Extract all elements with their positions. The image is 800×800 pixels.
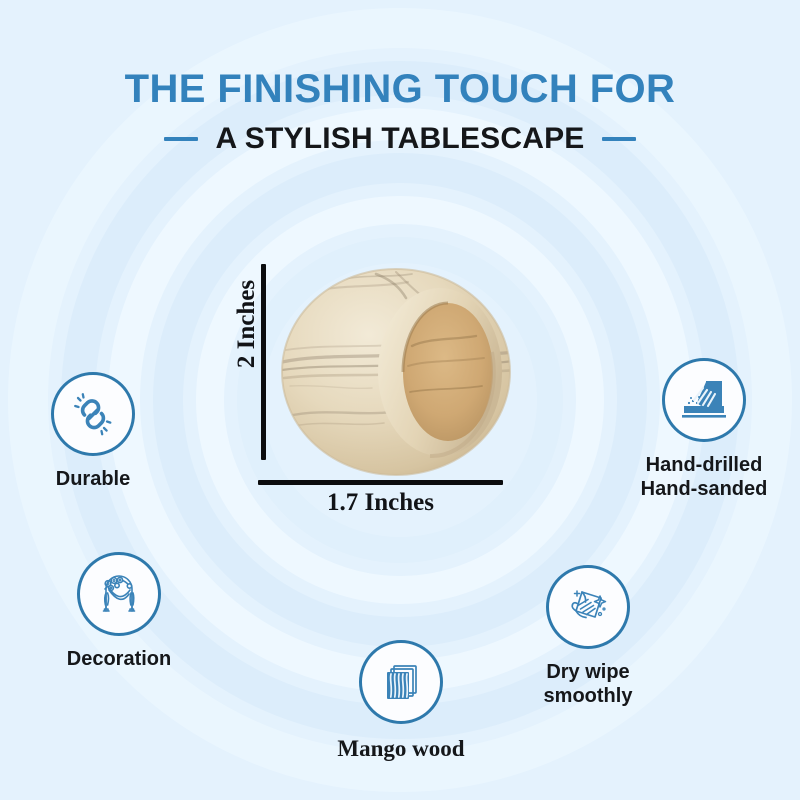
feature-label-handwork: Hand-drilled Hand-sanded bbox=[614, 453, 794, 501]
page-subtitle: A STYLISH TABLESCAPE bbox=[215, 122, 584, 156]
feature-label-decoration: Decoration bbox=[29, 647, 209, 671]
dash-left-icon bbox=[164, 137, 198, 141]
feature-label-mangowood: Mango wood bbox=[311, 735, 491, 763]
wood-planks-icon bbox=[378, 659, 424, 705]
feature-durable: Durable bbox=[3, 372, 183, 491]
feature-mangowood: Mango wood bbox=[311, 640, 491, 763]
headline-block: THE FINISHING TOUCH FOR A STYLISH TABLES… bbox=[0, 68, 800, 156]
feature-label-durable: Durable bbox=[3, 467, 183, 491]
chain-link-icon bbox=[70, 391, 116, 437]
product-photo-napkin-ring bbox=[280, 266, 520, 479]
feature-badge-handwork bbox=[662, 358, 746, 442]
width-dimension-label: 1.7 Inches bbox=[258, 489, 503, 517]
infographic-canvas: THE FINISHING TOUCH FOR A STYLISH TABLES… bbox=[0, 0, 800, 800]
feature-label-drywipe: Dry wipe smoothly bbox=[498, 660, 678, 708]
height-dimension-label: 2 Inches bbox=[233, 269, 261, 379]
product-dimension-group: 2 Inches 1.7 Inches bbox=[236, 258, 536, 518]
feature-badge-mangowood bbox=[359, 640, 443, 724]
hand-sanding-icon bbox=[679, 376, 729, 424]
height-dimension-line bbox=[261, 264, 266, 460]
feature-drywipe: Dry wipe smoothly bbox=[498, 565, 678, 708]
feature-badge-drywipe bbox=[546, 565, 630, 649]
subtitle-row: A STYLISH TABLESCAPE bbox=[0, 122, 800, 156]
width-dimension-line bbox=[258, 480, 503, 485]
page-title: THE FINISHING TOUCH FOR bbox=[0, 68, 800, 110]
floral-arch-icon bbox=[95, 570, 143, 618]
feature-badge-decoration bbox=[77, 552, 161, 636]
hand-wipe-icon bbox=[564, 583, 612, 631]
feature-decoration: Decoration bbox=[29, 552, 209, 671]
feature-badge-durable bbox=[51, 372, 135, 456]
dash-right-icon bbox=[602, 137, 636, 141]
feature-handwork: Hand-drilled Hand-sanded bbox=[614, 358, 794, 501]
